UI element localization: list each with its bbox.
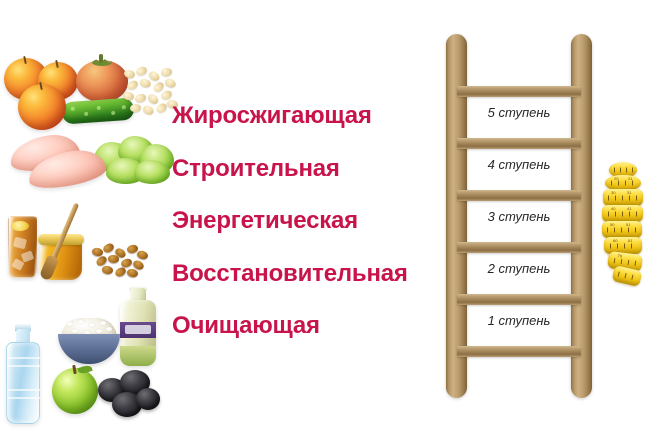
ladder-rung — [457, 86, 581, 97]
bowl-icon — [58, 334, 120, 364]
lettuce-icon — [108, 182, 156, 204]
red-apple-icon — [18, 84, 66, 130]
food-collage — [0, 48, 176, 378]
ladder-diagram: 5 ступень 4 ступень 3 ступень 2 ступень … — [446, 34, 592, 398]
diet-label-energetic: Энергетическая — [172, 195, 450, 248]
kefir-bottle-icon — [118, 286, 158, 366]
diet-label-restorative: Восстановительная — [172, 248, 450, 301]
diet-label-building: Строительная — [172, 143, 450, 196]
apple-leaf-icon — [77, 364, 92, 375]
diet-label-fat-burning: Жиросжигающая — [172, 90, 450, 143]
ladder-step-2: 2 ступень — [467, 261, 571, 276]
iced-tea-icon — [8, 216, 38, 278]
measuring-tape-icon: 2021 3031 4041 5051 6061 70 — [601, 162, 645, 286]
ladder-step-5: 5 ступень — [467, 105, 571, 120]
infographic-canvas: Жиросжигающая Строительная Энергетическа… — [0, 0, 650, 433]
tomato-icon — [76, 60, 128, 102]
ladder-rung — [457, 294, 581, 305]
green-apple-icon — [52, 368, 98, 414]
diet-label-cleansing: Очищающая — [172, 300, 450, 353]
water-body-icon — [6, 342, 40, 424]
ladder-rung — [457, 242, 581, 253]
oat-flakes-icon — [122, 66, 178, 118]
bottle-body-icon — [120, 300, 156, 366]
bottle-logo-icon — [125, 325, 151, 334]
rice-bowl-icon — [58, 316, 120, 364]
ladder-step-3: 3 ступень — [467, 209, 571, 224]
lemon-slice-icon — [11, 221, 29, 231]
water-bottle-icon — [6, 324, 40, 424]
ladder-step-4: 4 ступень — [467, 157, 571, 172]
bottle-bottom-band-icon — [120, 346, 156, 366]
ladder-rung — [457, 346, 581, 357]
ladder-rung — [457, 190, 581, 201]
ladder-rung — [457, 138, 581, 149]
ladder-step-1: 1 ступень — [467, 313, 571, 328]
tomato-stem-icon — [99, 54, 103, 63]
diet-type-label-list: Жиросжигающая Строительная Энергетическа… — [172, 90, 450, 353]
raisins-icon — [92, 244, 148, 278]
charcoal-tablets-icon — [98, 370, 160, 418]
